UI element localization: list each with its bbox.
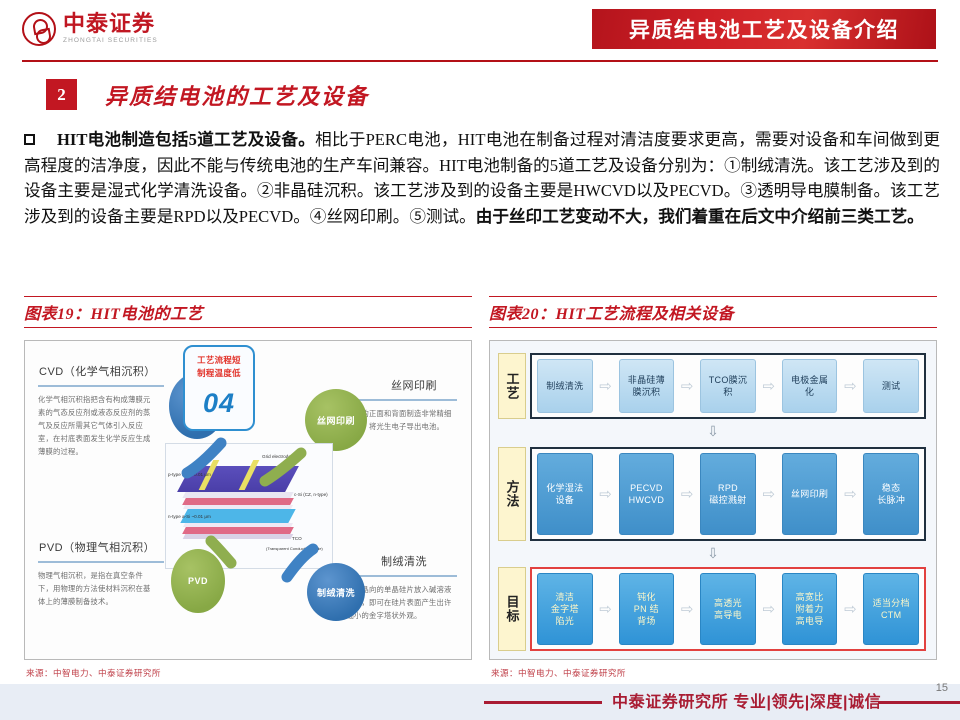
f20-cell-process-1: 非晶硅薄膜沉积: [619, 359, 675, 413]
body-paragraph: HIT电池制造包括5道工艺及设备。相比于PERC电池，HIT电池在制备过程对清洁…: [24, 127, 940, 229]
f20-cell-target-0: 清洁金字塔陷光: [537, 573, 593, 645]
f20-arrow-icon: ⇨: [758, 377, 780, 395]
slide: 中泰证券 ZHONGTAI SECURITIES 异质结电池工艺及设备介绍 2 …: [0, 0, 960, 720]
section-title: 异质结电池的工艺及设备: [105, 79, 369, 110]
f20-arrow-icon: ⇨: [595, 485, 617, 503]
header-title-box: 异质结电池工艺及设备介绍: [592, 9, 936, 49]
f20-cell-process-2: TCO膜沉积: [700, 359, 756, 413]
logo-company-name-cn: 中泰证券: [63, 13, 158, 35]
f20-row-tag-target: 目标: [498, 567, 526, 651]
f20-arrow-icon: ⇨: [595, 600, 617, 618]
f20-cell-target-2: 高透光高导电: [700, 573, 756, 645]
f19-heading-screenprint: 丝网印刷: [391, 377, 437, 393]
figure-19-content: CVD（化学气相沉积） 化学气相沉积指把含有构成薄膜元素的气态反应剂或液态反应剂…: [25, 341, 471, 659]
f20-cell-process-0: 制绒清洗: [537, 359, 593, 413]
logo-mark-icon: [22, 12, 56, 46]
f19-cell-layer-7: [183, 534, 294, 539]
f20-arrow-icon: ⇨: [595, 377, 617, 395]
figure-19-frame: CVD（化学气相沉积） 化学气相沉积指把含有构成薄膜元素的气态反应剂或液态反应剂…: [24, 340, 472, 660]
f20-row-tag-method: 方法: [498, 447, 526, 541]
page-number: 15: [936, 682, 948, 694]
f19-label-tco-full: (Transparent Conductive Oxide): [266, 546, 323, 551]
figure-20-frame: 工艺 制绒清洗 ⇨ 非晶硅薄膜沉积 ⇨ TCO膜沉积 ⇨ 电极金属化 ⇨ 测试 …: [489, 340, 937, 660]
f19-label-tco: TCO: [292, 536, 302, 541]
f19-bubble-pvd: PVD: [171, 549, 225, 613]
f20-down-arrow-icon-1: ⇩: [707, 423, 719, 440]
f20-row-process: 制绒清洗 ⇨ 非晶硅薄膜沉积 ⇨ TCO膜沉积 ⇨ 电极金属化 ⇨ 测试: [530, 353, 926, 419]
f19-callout-card: 工艺流程短 制程温度低 04: [183, 345, 255, 431]
f20-cell-method-2: RPD磁控溅射: [700, 453, 756, 535]
f19-cell-layer-6: [182, 527, 294, 534]
f20-cell-process-4: 测试: [863, 359, 919, 413]
f19-cell-layer-2: [182, 498, 294, 505]
f19-label-csi: c-Si (CZ, n-type): [294, 492, 328, 497]
figure-19-source: 来源：中智电力、中泰证券研究所: [26, 667, 161, 679]
f19-heading-cvd: CVD（化学气相沉积）: [39, 363, 156, 379]
f20-cell-target-1: 钝化PN 结背场: [619, 573, 675, 645]
f20-cell-method-3: 丝网印刷: [782, 453, 838, 535]
f19-bubble-texturing-label: 制绒清洗: [317, 586, 355, 599]
f20-row-tag-process: 工艺: [498, 353, 526, 419]
f19-heading-pvd: PVD（物理气相沉积）: [39, 539, 155, 555]
body-tail-text: 由于丝印工艺变动不大，我们着重在后文中介绍前三类工艺。: [476, 207, 924, 226]
f19-cell-layer-top: [177, 466, 299, 492]
f20-down-arrow-icon-2: ⇩: [707, 545, 719, 562]
f20-arrow-icon: ⇨: [676, 377, 698, 395]
f19-rule-pvd: [38, 561, 164, 563]
square-bullet-icon: [24, 134, 35, 145]
logo-company-name-en: ZHONGTAI SECURITIES: [63, 38, 158, 45]
f20-cell-method-1: PECVDHWCVD: [619, 453, 675, 535]
f19-label-ntype: n-type a-Si ~0.01 μm: [168, 514, 211, 519]
f19-desc-pvd: 物理气相沉积，是指在真空条件下，用物理的方法使材料沉积在基体上的薄膜制备技术。: [38, 569, 156, 608]
f19-bubble-texturing: 制绒清洗: [307, 563, 365, 621]
f20-arrow-icon: ⇨: [758, 485, 780, 503]
f20-cell-target-3: 高宽比附着力高电导: [782, 573, 838, 645]
f20-row-method: 化学湿法设备 ⇨ PECVDHWCVD ⇨ RPD磁控溅射 ⇨ 丝网印刷 ⇨ 稳…: [530, 447, 926, 541]
f20-cell-method-0: 化学湿法设备: [537, 453, 593, 535]
footer-rule-right: [878, 701, 960, 704]
f19-rule-cvd: [38, 385, 164, 387]
header-divider: [22, 60, 938, 62]
f19-callout-number: 04: [203, 388, 235, 419]
f20-arrow-icon: ⇨: [839, 377, 861, 395]
f19-bubble-screenprint: 丝网印刷: [305, 389, 367, 451]
f20-arrow-icon: ⇨: [839, 485, 861, 503]
f20-arrow-icon: ⇨: [676, 600, 698, 618]
f19-desc-cvd: 化学气相沉积指把含有构成薄膜元素的气态反应剂或液态反应剂的蒸气及反应所需其它气体…: [38, 393, 156, 458]
f19-bubble-screenprint-label: 丝网印刷: [317, 414, 355, 427]
f19-heading-texturing: 制绒清洗: [381, 553, 427, 569]
figure-20-caption: 图表20：HIT工艺流程及相关设备: [489, 296, 937, 328]
footer-text: 中泰证券研究所 专业|领先|深度|诚信: [612, 688, 881, 712]
f19-callout-line2: 制程温度低: [197, 367, 241, 380]
f19-label-grid-electrode: Grid electrode: [262, 454, 291, 459]
body-paragraph-block: HIT电池制造包括5道工艺及设备。相比于PERC电池，HIT电池在制备过程对清洁…: [24, 127, 940, 229]
figure-19-caption: 图表19：HIT电池的工艺: [24, 296, 472, 328]
f19-bubble-pvd-label: PVD: [188, 576, 208, 586]
f20-arrow-icon: ⇨: [758, 600, 780, 618]
body-lead-text: HIT电池制造包括5道工艺及设备。: [57, 130, 315, 149]
f19-callout-line1: 工艺流程短: [197, 354, 241, 367]
figure-20-content: 工艺 制绒清洗 ⇨ 非晶硅薄膜沉积 ⇨ TCO膜沉积 ⇨ 电极金属化 ⇨ 测试 …: [490, 341, 936, 659]
figure-20-source: 来源：中智电力、中泰证券研究所: [491, 667, 626, 679]
f20-cell-target-4: 适当分档CTM: [863, 573, 919, 645]
header-title: 异质结电池工艺及设备介绍: [629, 14, 899, 44]
footer-rule-left: [484, 701, 602, 704]
company-logo: 中泰证券 ZHONGTAI SECURITIES: [22, 12, 158, 46]
f20-arrow-icon: ⇨: [676, 485, 698, 503]
f19-label-ptype: p-type a-Si ~0.01 μm: [168, 472, 211, 477]
f20-cell-method-4: 稳态长脉冲: [863, 453, 919, 535]
section-number-badge: 2: [46, 79, 77, 110]
f20-cell-process-3: 电极金属化: [782, 359, 838, 413]
f20-row-target: 清洁金字塔陷光 ⇨ 钝化PN 结背场 ⇨ 高透光高导电 ⇨ 高宽比附着力高电导 …: [530, 567, 926, 651]
f20-arrow-icon: ⇨: [839, 600, 861, 618]
